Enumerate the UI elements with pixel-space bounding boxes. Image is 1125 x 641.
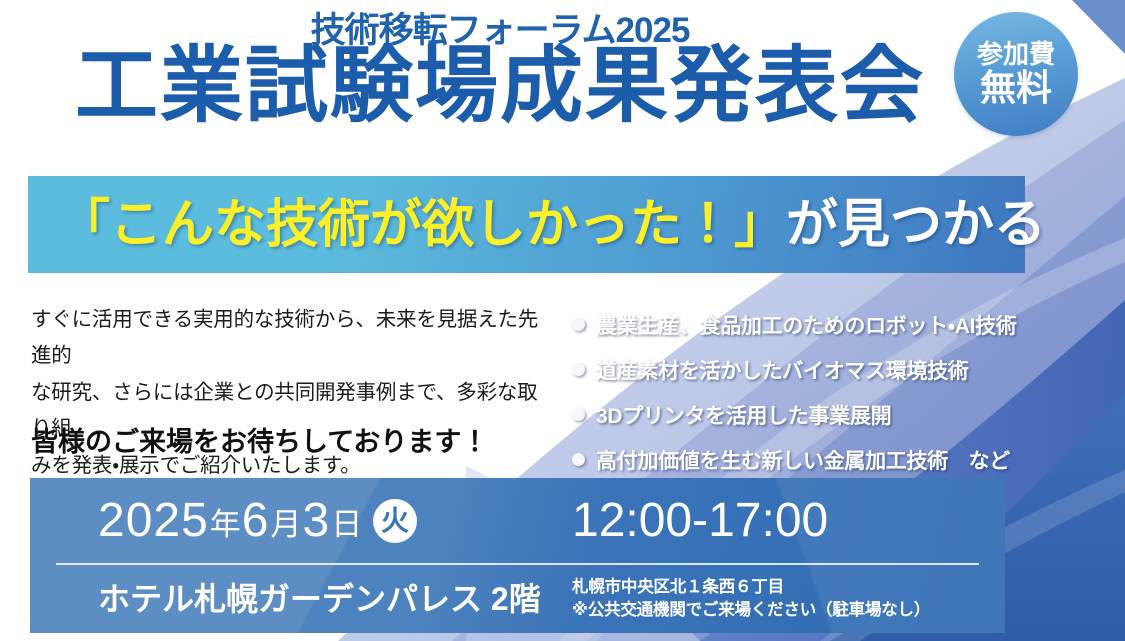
bullet-dot-icon <box>572 318 585 331</box>
catchphrase-banner: 「こんな技術が欲しかった！」が見つかる <box>28 176 1025 273</box>
event-day: 3 <box>302 497 330 545</box>
topic-label: 農業生産、食品加工のためのロボット・AI技術 <box>596 310 1017 340</box>
list-item: 高付加価値を生む新しい金属加工技術 など <box>572 437 1117 482</box>
topic-label: 道産素材を活かしたバイオマス環境技術 <box>596 355 969 385</box>
event-venue-row: ホテル札幌ガーデンパレス 2階 札幌市中央区北１条西６丁目 ※公共交通機関でご来… <box>30 565 1005 633</box>
badge-label-free: 無料 <box>980 69 1052 107</box>
catchphrase-highlight: 「こんな技術が欲しかった！」 <box>58 196 786 254</box>
lead-line-1: すぐに活用できる実用的な技術から、未来を見据えた先進的 <box>31 302 547 375</box>
weekday-badge: 火 <box>373 499 417 543</box>
event-year-unit: 年 <box>209 509 242 540</box>
list-item: 農業生産、食品加工のためのロボット・AI技術 <box>572 302 1117 347</box>
bullet-dot-icon <box>572 453 585 466</box>
event-year: 2025 <box>98 497 209 545</box>
event-date: 2025 年 6 月 3 日 火 <box>30 497 560 545</box>
page-title: 工業試験場成果発表会 <box>0 44 1000 127</box>
catchphrase-rest: が見つかる <box>786 196 1046 254</box>
event-venue: ホテル札幌ガーデンパレス 2階 <box>30 583 560 615</box>
event-address: 札幌市中央区北１条西６丁目 <box>572 576 1005 599</box>
list-item: 道産素材を活かしたバイオマス環境技術 <box>572 347 1117 392</box>
event-day-unit: 日 <box>330 509 363 540</box>
event-datetime-row: 2025 年 6 月 3 日 火 12:00-17:00 <box>30 478 1005 563</box>
topic-label: 高付加価値を生む新しい金属加工技術 など <box>596 445 1010 475</box>
badge-label-fee: 参加費 <box>977 41 1055 68</box>
bullet-dot-icon <box>572 363 585 376</box>
bullet-dot-icon <box>572 408 585 421</box>
topic-label: 3Dプリンタを活用した事業展開 <box>596 400 891 430</box>
event-transport-note: ※公共交通機関でご来場ください（駐車場なし） <box>572 599 1005 622</box>
event-time: 12:00-17:00 <box>560 497 1005 545</box>
event-poster: 技術移転フォーラム2025 工業試験場成果発表会 参加費 無料 「こんな技術が欲… <box>0 0 1125 641</box>
event-address-block: 札幌市中央区北１条西６丁目 ※公共交通機関でご来場ください（駐車場なし） <box>560 576 1005 622</box>
event-details-box: 2025 年 6 月 3 日 火 12:00-17:00 ホテル札幌ガーデンパレ… <box>30 478 1005 633</box>
free-admission-badge: 参加費 無料 <box>954 12 1078 136</box>
list-item: 3Dプリンタを活用した事業展開 <box>572 392 1117 437</box>
catchphrase-text: 「こんな技術が欲しかった！」が見つかる <box>28 199 1046 251</box>
event-month: 6 <box>242 497 270 545</box>
topic-list: 農業生産、食品加工のためのロボット・AI技術 道産素材を活かしたバイオマス環境技… <box>572 302 1117 482</box>
lead-emphasis: 皆様のご来場をお待ちしております！ <box>31 420 561 459</box>
event-month-unit: 月 <box>269 509 302 540</box>
